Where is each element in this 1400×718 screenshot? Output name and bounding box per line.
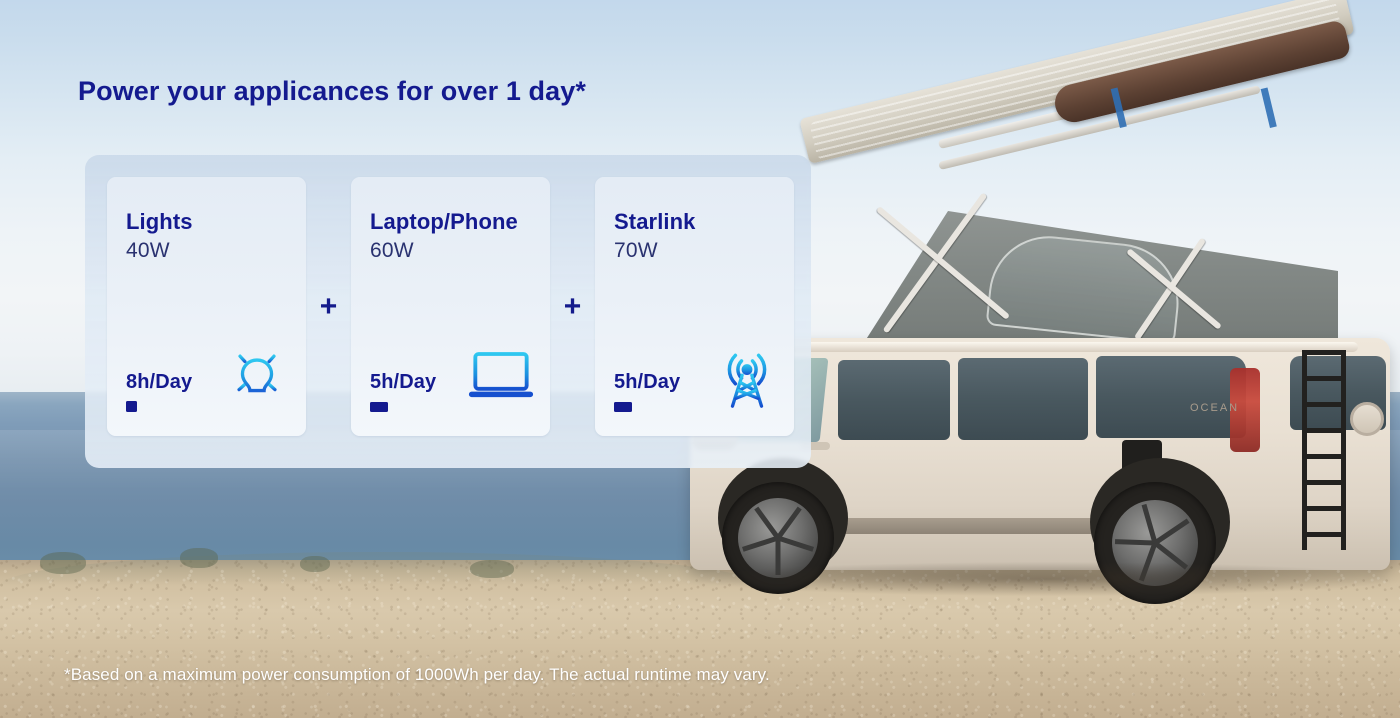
vw-logo-icon xyxy=(1350,402,1384,436)
card-hours-per-day: 5h/Day xyxy=(614,371,680,394)
van-rear-window xyxy=(1096,356,1246,438)
shrub xyxy=(470,560,514,578)
ocean-badge: OCEAN xyxy=(1190,402,1239,414)
plus-separator: + xyxy=(550,177,595,436)
shrub xyxy=(300,556,330,572)
laptop-icon xyxy=(468,336,534,402)
card-marker xyxy=(614,402,632,412)
plus-separator: + xyxy=(306,177,351,436)
shrub xyxy=(40,552,86,574)
card-wattage: 70W xyxy=(614,239,658,263)
promo-banner: OCEAN Power your applicances fo xyxy=(0,0,1400,718)
appliance-card-starlink[interactable]: Starlink 70W 5h/Day xyxy=(595,177,794,436)
appliance-panel: Lights 40W 8h/Day xyxy=(85,155,811,468)
card-marker xyxy=(126,401,137,412)
van-ground-shadow xyxy=(700,562,1390,596)
card-hours-per-day: 5h/Day xyxy=(370,371,436,394)
van-side-window xyxy=(958,358,1088,440)
van-rear-ladder xyxy=(1302,350,1346,550)
card-title: Starlink xyxy=(614,209,696,235)
appliance-card-laptop-phone[interactable]: Laptop/Phone 60W 5h/Day xyxy=(351,177,550,436)
card-marker xyxy=(370,402,388,412)
lightbulb-icon xyxy=(224,342,290,408)
card-hours-per-day: 8h/Day xyxy=(126,371,192,394)
shrub xyxy=(180,548,218,568)
antenna-tower-icon xyxy=(714,344,780,410)
van-side-window xyxy=(838,360,950,440)
appliance-card-row: Lights 40W 8h/Day xyxy=(107,177,794,436)
card-wattage: 60W xyxy=(370,239,414,263)
appliance-card-lights[interactable]: Lights 40W 8h/Day xyxy=(107,177,306,436)
footnote-text: *Based on a maximum power consumption of… xyxy=(64,665,770,685)
card-title: Lights xyxy=(126,209,193,235)
card-wattage: 40W xyxy=(126,239,170,263)
page-title: Power your applicances for over 1 day* xyxy=(78,76,586,107)
card-title: Laptop/Phone xyxy=(370,209,518,235)
